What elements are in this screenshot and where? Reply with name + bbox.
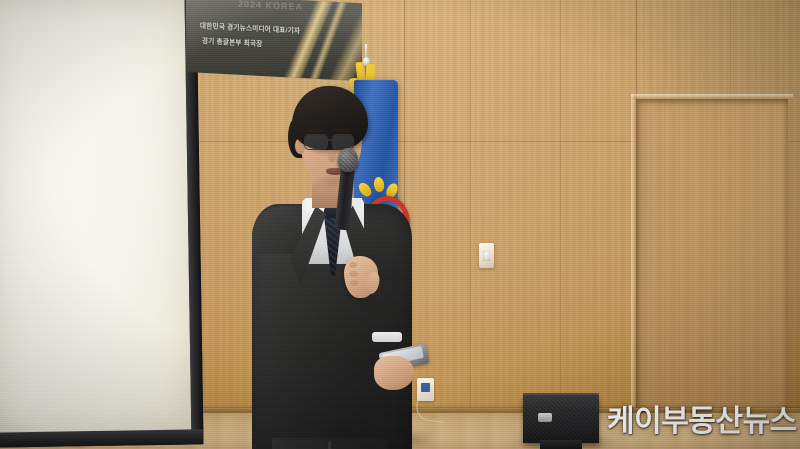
pa-speaker-stand <box>540 440 582 449</box>
photo-canvas: 2024 KOREA 대한민국 경기뉴스미디어 대표/기자 경기 총괄본부 최국… <box>0 0 800 449</box>
pa-loudspeaker <box>523 397 599 443</box>
knuckle <box>349 271 358 277</box>
wall-recess-panel <box>636 99 788 429</box>
speaker <box>246 86 428 449</box>
slide-veil <box>186 0 362 81</box>
knuckle <box>349 262 357 268</box>
trouser-seam <box>328 442 331 449</box>
glasses-bridge <box>325 139 333 141</box>
knuckle <box>350 280 358 286</box>
screen-surface <box>0 0 191 434</box>
shirt-cuff <box>372 332 402 342</box>
nose <box>328 146 336 162</box>
microphone-head <box>338 148 358 172</box>
wall-seam <box>470 0 471 449</box>
projection-screen <box>0 0 204 448</box>
wall-seam <box>560 0 561 449</box>
pa-speaker-badge <box>538 413 552 422</box>
news-watermark: 케이부동산뉴스 <box>607 396 797 440</box>
hand-holding-phone <box>374 356 414 390</box>
projected-slide: 2024 KOREA 대한민국 경기뉴스미디어 대표/기자 경기 총괄본부 최국… <box>186 0 362 81</box>
glasses-lens-left <box>304 134 328 150</box>
light-switch[interactable] <box>479 243 494 268</box>
